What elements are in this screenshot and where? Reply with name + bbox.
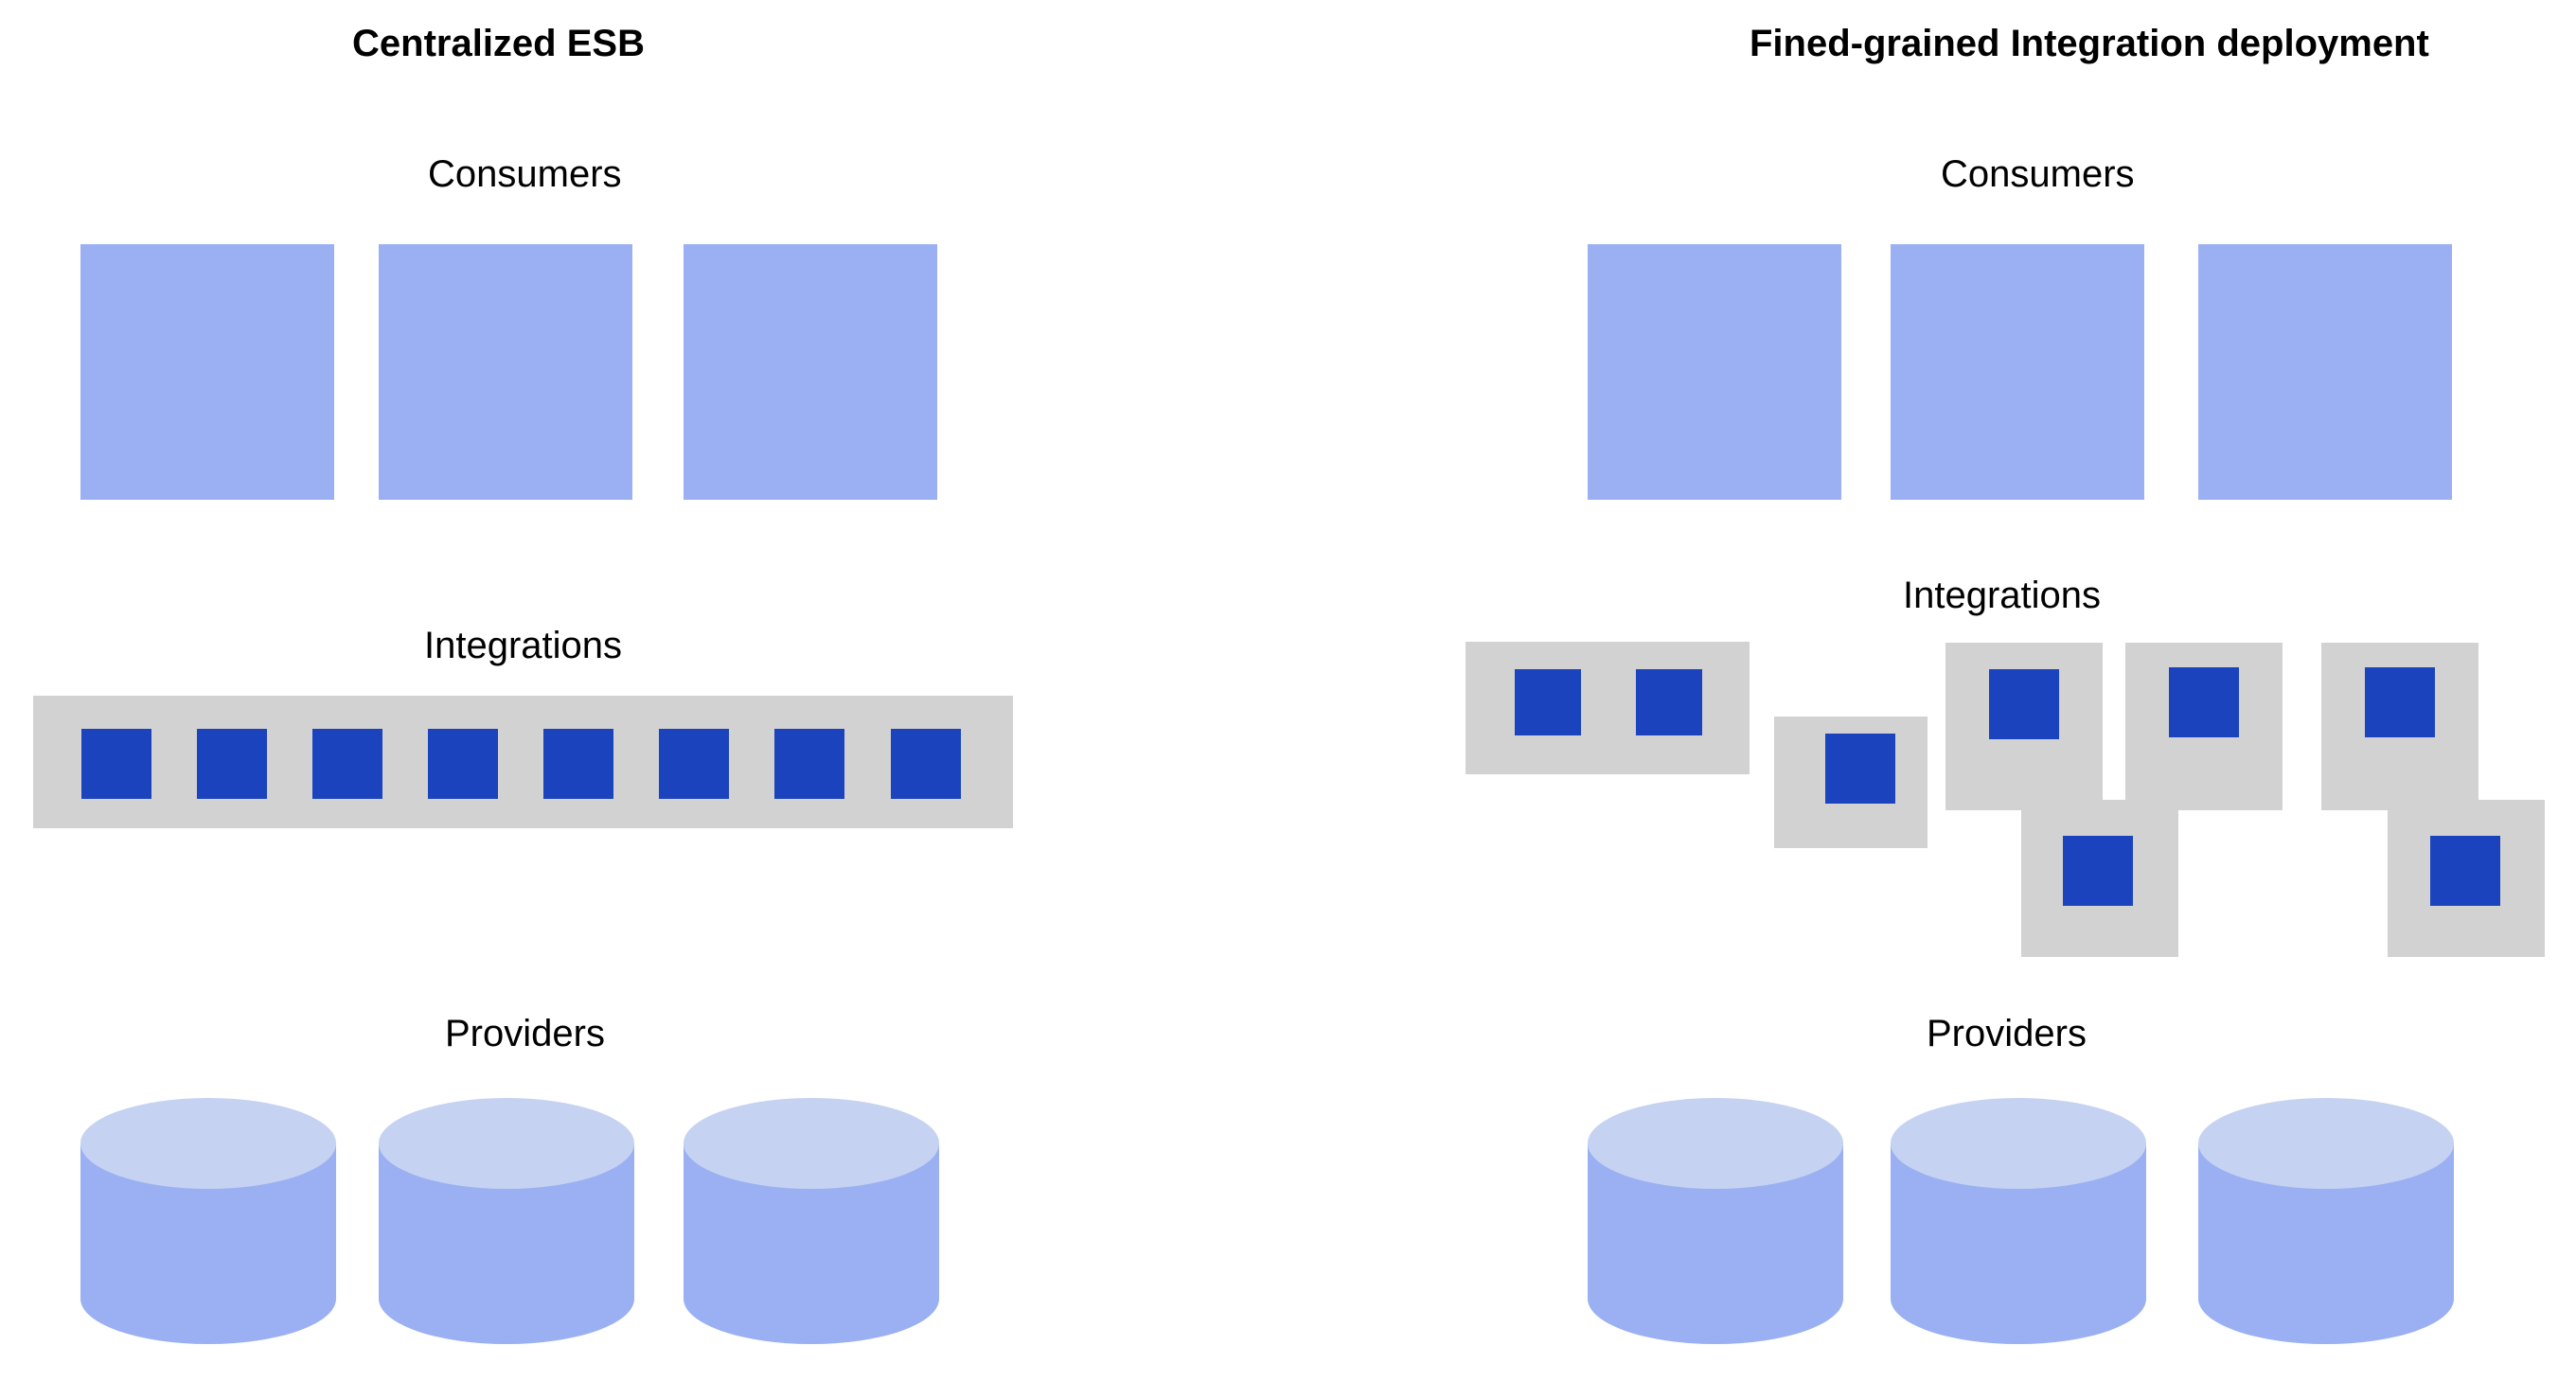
consumer-box	[379, 244, 632, 500]
integration-unit	[891, 729, 961, 799]
integration-unit	[312, 729, 382, 799]
panel-title-centralized-esb: Centralized ESB	[352, 21, 645, 66]
section-label-providers-right: Providers	[1927, 1011, 2087, 1056]
section-label-integrations-left: Integrations	[424, 623, 622, 668]
section-label-providers-left: Providers	[445, 1011, 605, 1056]
integration-unit	[543, 729, 613, 799]
provider-cylinder	[1891, 1098, 2146, 1344]
section-label-consumers-right: Consumers	[1941, 151, 2135, 197]
section-label-integrations-right: Integrations	[1903, 573, 2101, 618]
integration-unit	[197, 729, 267, 799]
section-label-consumers-left: Consumers	[428, 151, 622, 197]
diagram-canvas: Centralized ESB Consumers Integrations P…	[0, 0, 2576, 1381]
integration-container	[1466, 642, 1750, 774]
provider-cylinder	[684, 1098, 939, 1344]
provider-cylinder	[1588, 1098, 1843, 1344]
consumer-box	[80, 244, 334, 500]
consumer-box	[684, 244, 937, 500]
integration-unit	[2169, 667, 2239, 737]
integration-unit	[2430, 836, 2500, 906]
integration-unit	[774, 729, 844, 799]
integration-unit	[2365, 667, 2435, 737]
consumer-box	[1891, 244, 2144, 500]
integration-unit	[81, 729, 151, 799]
integration-unit	[1989, 669, 2059, 739]
provider-cylinder	[80, 1098, 336, 1344]
integration-unit	[428, 729, 498, 799]
integration-unit	[659, 729, 729, 799]
provider-cylinder	[2198, 1098, 2454, 1344]
consumer-box	[1588, 244, 1841, 500]
panel-title-fined-grained: Fined-grained Integration deployment	[1750, 21, 2429, 66]
integration-unit	[2063, 836, 2133, 906]
integration-unit	[1515, 669, 1581, 735]
integration-unit	[1825, 734, 1895, 804]
integration-unit	[1636, 669, 1702, 735]
consumer-box	[2198, 244, 2452, 500]
esb-bus-container	[33, 696, 1013, 828]
provider-cylinder	[379, 1098, 634, 1344]
